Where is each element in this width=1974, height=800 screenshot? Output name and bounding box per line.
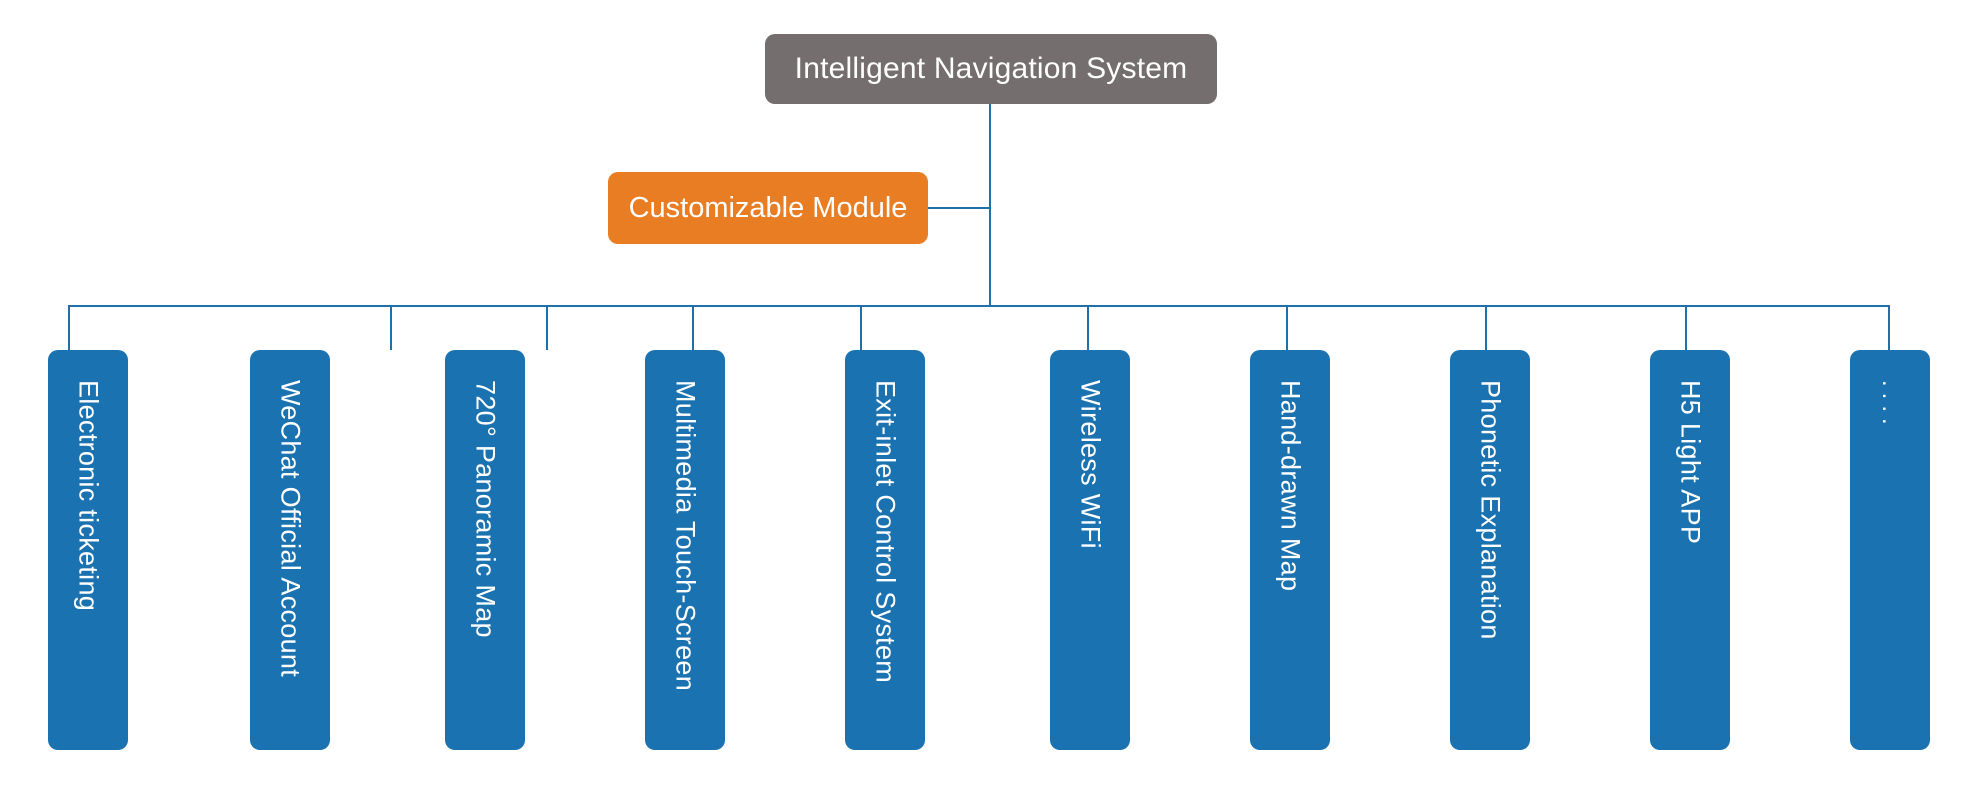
leaf-node-more[interactable]: ....	[1850, 350, 1930, 750]
leaf-node-multimedia-touch-screen[interactable]: Multimedia Touch-Screen	[645, 350, 725, 750]
root-node[interactable]: Intelligent Navigation System	[765, 34, 1217, 104]
leaf-node-wireless-wifi[interactable]: Wireless WiFi	[1050, 350, 1130, 750]
connector-drop-7	[1286, 305, 1288, 350]
leaf-node-electronic-ticketing[interactable]: Electronic ticketing	[48, 350, 128, 750]
connector-drop-6	[1087, 305, 1089, 350]
customizable-module-node[interactable]: Customizable Module	[608, 172, 928, 244]
connector-drop-8	[1485, 305, 1487, 350]
leaf-node-h5-light-app[interactable]: H5 Light APP	[1650, 350, 1730, 750]
leaf-node-exit-inlet-control-system[interactable]: Exit-inlet Control System	[845, 350, 925, 750]
leaf-node-720-panoramic-map[interactable]: 720° Panoramic Map	[445, 350, 525, 750]
leaf-node-phonetic-explanation[interactable]: Phonetic Explanation	[1450, 350, 1530, 750]
connector-root-trunk	[989, 104, 991, 307]
connector-drop-3	[546, 305, 548, 350]
leaf-node-label: Exit-inlet Control System	[870, 380, 901, 683]
connector-drop-5	[860, 305, 862, 350]
connector-drop-2	[390, 305, 392, 350]
leaf-node-label: Phonetic Explanation	[1475, 380, 1506, 640]
leaf-node-hand-drawn-map[interactable]: Hand-drawn Map	[1250, 350, 1330, 750]
customizable-module-label: Customizable Module	[629, 192, 908, 225]
connector-distribution-bar	[68, 305, 1890, 307]
leaf-node-label: ....	[1876, 380, 1904, 431]
leaf-node-wechat-official-account[interactable]: WeChat Official Account	[250, 350, 330, 750]
leaf-node-label: 720° Panoramic Map	[470, 380, 501, 638]
leaf-node-label: Hand-drawn Map	[1275, 380, 1306, 591]
leaf-node-label: H5 Light APP	[1675, 380, 1706, 544]
leaf-node-label: Multimedia Touch-Screen	[670, 380, 701, 691]
connector-branch-stub	[928, 207, 990, 209]
connector-drop-9	[1685, 305, 1687, 350]
root-node-label: Intelligent Navigation System	[795, 52, 1188, 86]
connector-drop-4	[692, 305, 694, 350]
leaf-node-label: Electronic ticketing	[73, 380, 104, 611]
connector-drop-1	[68, 305, 70, 350]
leaf-node-label: Wireless WiFi	[1075, 380, 1106, 549]
leaf-node-label: WeChat Official Account	[275, 380, 306, 677]
connector-drop-10	[1888, 305, 1890, 350]
diagram-canvas: Intelligent Navigation System Customizab…	[0, 0, 1974, 800]
